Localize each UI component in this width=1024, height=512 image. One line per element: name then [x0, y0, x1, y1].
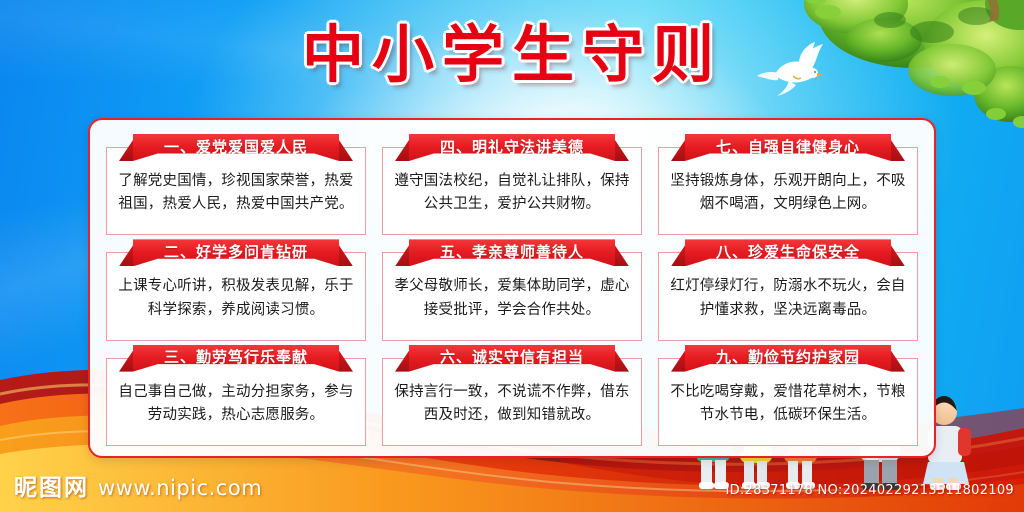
rule-body-box: 遵守国法校纪，自觉礼让排队，保持公共卫生，爱护公共财物。 — [382, 147, 642, 235]
rule-heading: 六、诚实守信有担当 — [440, 346, 584, 367]
poster-title-wrap: 中小学生守则 — [0, 22, 1024, 87]
rules-grid: 一、爱党爱国爱人民 了解党史国情，珍视国家荣誉，热爱祖国，热爱人民，热爱中国共产… — [106, 134, 918, 446]
rule-card: 八、珍爱生命保安全 红灯停绿灯行，防溺水不玩火，会自护懂求救，坚决远离毒品。 — [658, 239, 918, 340]
rule-body: 不比吃喝穿戴，爱惜花草树木，节粮节水节电，低碳环保生活。 — [667, 381, 909, 428]
site-name: 昵图网 — [14, 468, 89, 502]
rule-card: 六、诚实守信有担当 保持言行一致，不说谎不作弊，借东西及时还，做到知错就改。 — [382, 345, 642, 446]
rule-body-box: 自己事自己做，主动分担家务，参与劳动实践，热心志愿服务。 — [106, 358, 366, 446]
rule-body-box: 红灯停绿灯行，防溺水不玩火，会自护懂求救，坚决远离毒品。 — [658, 252, 918, 340]
rule-card: 九、勤俭节约护家园 不比吃喝穿戴，爱惜花草树木，节粮节水节电，低碳环保生活。 — [658, 345, 918, 446]
rule-body: 上课专心听讲，积极发表见解，乐于科学探索，养成阅读习惯。 — [115, 275, 357, 322]
rule-body: 坚持锻炼身体，乐观开朗向上，不吸烟不喝酒，文明绿色上网。 — [667, 170, 909, 217]
rule-body-box: 保持言行一致，不说谎不作弊，借东西及时还，做到知错就改。 — [382, 358, 642, 446]
rule-heading: 一、爱党爱国爱人民 — [164, 136, 308, 157]
page-title: 中小学生守则 — [302, 22, 722, 87]
rule-card: 三、勤劳笃行乐奉献 自己事自己做，主动分担家务，参与劳动实践，热心志愿服务。 — [106, 345, 366, 446]
rule-card: 七、自强自律健身心 坚持锻炼身体，乐观开朗向上，不吸烟不喝酒，文明绿色上网。 — [658, 134, 918, 235]
site-url: www.nipic.com — [98, 476, 262, 500]
rule-body: 了解党史国情，珍视国家荣誉，热爱祖国，热爱人民，热爱中国共产党。 — [115, 170, 357, 217]
rule-body-box: 不比吃喝穿戴，爱惜花草树木，节粮节水节电，低碳环保生活。 — [658, 358, 918, 446]
rule-body: 遵守国法校纪，自觉礼让排队，保持公共卫生，爱护公共财物。 — [391, 170, 633, 217]
rule-card: 二、好学多问肯钻研 上课专心听讲，积极发表见解，乐于科学探索，养成阅读习惯。 — [106, 239, 366, 340]
poster-canvas: 中小学生守则 — [0, 0, 1024, 512]
rule-body-box: 上课专心听讲，积极发表见解，乐于科学探索，养成阅读习惯。 — [106, 252, 366, 340]
rule-body: 保持言行一致，不说谎不作弊，借东西及时还，做到知错就改。 — [391, 381, 633, 428]
rule-card: 一、爱党爱国爱人民 了解党史国情，珍视国家荣誉，热爱祖国，热爱人民，热爱中国共产… — [106, 134, 366, 235]
rule-body-box: 孝父母敬师长，爱集体助同学，虚心接受批评，学会合作共处。 — [382, 252, 642, 340]
rule-heading: 九、勤俭节约护家园 — [716, 346, 860, 367]
site-watermark: 昵图网 www.nipic.com — [14, 468, 262, 502]
rule-heading: 三、勤劳笃行乐奉献 — [164, 346, 308, 367]
rule-card: 四、明礼守法讲美德 遵守国法校纪，自觉礼让排队，保持公共卫生，爱护公共财物。 — [382, 134, 642, 235]
rule-card: 五、孝亲尊师善待人 孝父母敬师长，爱集体助同学，虚心接受批评，学会合作共处。 — [382, 239, 642, 340]
rule-body-box: 了解党史国情，珍视国家荣誉，热爱祖国，热爱人民，热爱中国共产党。 — [106, 147, 366, 235]
rules-board: 一、爱党爱国爱人民 了解党史国情，珍视国家荣誉，热爱祖国，热爱人民，热爱中国共产… — [88, 118, 936, 458]
rule-body-box: 坚持锻炼身体，乐观开朗向上，不吸烟不喝酒，文明绿色上网。 — [658, 147, 918, 235]
rule-heading: 八、珍爱生命保安全 — [716, 241, 860, 262]
rule-body: 孝父母敬师长，爱集体助同学，虚心接受批评，学会合作共处。 — [391, 275, 633, 322]
rule-body: 红灯停绿灯行，防溺水不玩火，会自护懂求救，坚决远离毒品。 — [667, 275, 909, 322]
rule-body: 自己事自己做，主动分担家务，参与劳动实践，热心志愿服务。 — [115, 381, 357, 428]
image-id-text: ID:28371178 NO:20240229213511802109 — [725, 483, 1014, 498]
rule-heading: 二、好学多问肯钻研 — [164, 241, 308, 262]
rule-heading: 五、孝亲尊师善待人 — [440, 241, 584, 262]
rule-heading: 七、自强自律健身心 — [716, 136, 860, 157]
rule-heading: 四、明礼守法讲美德 — [440, 136, 584, 157]
